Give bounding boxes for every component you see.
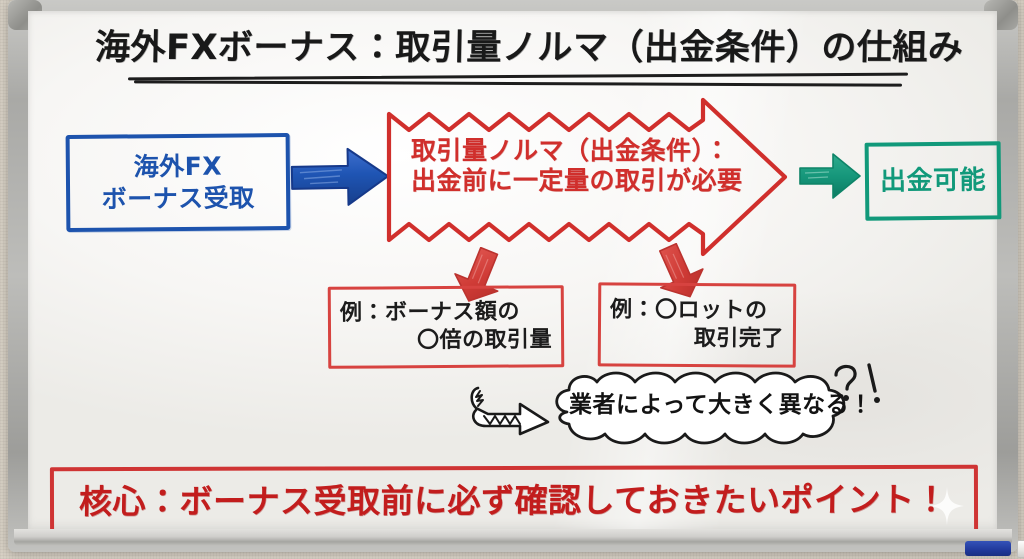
example-left-line-2: 〇倍の取引量	[340, 327, 552, 354]
whiteboard-surface	[28, 11, 997, 529]
example-box-lot-completion: 例：〇ロットの 取引完了	[598, 282, 797, 367]
start-box-content: 海外FX ボーナス受取	[70, 137, 287, 228]
blue-marker[interactable]	[965, 541, 1011, 556]
end-box-label: 出金可能	[880, 165, 986, 197]
title-text: 海外FXボーナス：取引量ノルマ（出金条件）の仕組み	[95, 28, 941, 69]
note-cloud-bubble: 業者によって大きく異なる！	[545, 368, 865, 446]
main-banner-line-1: 取引量ノルマ（出金条件）：	[411, 136, 743, 166]
diagram-title: 海外FXボーナス：取引量ノルマ（出金条件）の仕組み	[95, 28, 940, 85]
whiteboard-eraser[interactable]	[1017, 540, 1024, 558]
key-point-box: 核心：ボーナス受取前に必ず確認しておきたいポイント！	[50, 465, 978, 538]
main-banner-content: 取引量ノルマ（出金条件）： 出金前に一定量の取引が必要	[411, 136, 743, 195]
main-banner-line-2: 出金前に一定量の取引が必要	[411, 166, 743, 196]
example-right-content: 例：〇ロットの 取引完了	[601, 285, 794, 364]
example-right-line-1: 例：〇ロットの	[610, 297, 784, 324]
example-left-line-1: 例：ボーナス額の	[340, 299, 552, 326]
example-right-line-2: 取引完了	[610, 325, 784, 352]
example-box-bonus-multiple: 例：ボーナス額の 〇倍の取引量	[328, 285, 565, 369]
whiteboard-scene: 海外FXボーナス：取引量ノルマ（出金条件）の仕組み 海外FX ボーナス受取 取引…	[0, 0, 1024, 559]
start-box-line-1: 海外FX	[134, 151, 223, 181]
marker-tray	[14, 529, 1012, 546]
main-requirement-banner: 取引量ノルマ（出金条件）： 出金前に一定量の取引が必要	[383, 96, 791, 258]
green-right-arrow-icon	[799, 152, 861, 200]
key-point-text: 核心：ボーナス受取前に必ず確認しておきたいポイント！	[79, 481, 949, 522]
blue-right-arrow-icon	[289, 145, 390, 209]
start-box-line-2: ボーナス受取	[102, 183, 255, 214]
start-box-bonus-receipt: 海外FX ボーナス受取	[66, 133, 291, 232]
end-box-withdrawal-available: 出金可能	[865, 141, 1002, 220]
note-bubble-text: 業者によって大きく異なる！	[569, 392, 841, 419]
title-underline-upper	[127, 73, 907, 81]
example-left-content: 例：ボーナス額の 〇倍の取引量	[331, 288, 562, 366]
question-exclamation-icon	[828, 359, 890, 409]
sparkle-glint-icon	[930, 487, 964, 525]
